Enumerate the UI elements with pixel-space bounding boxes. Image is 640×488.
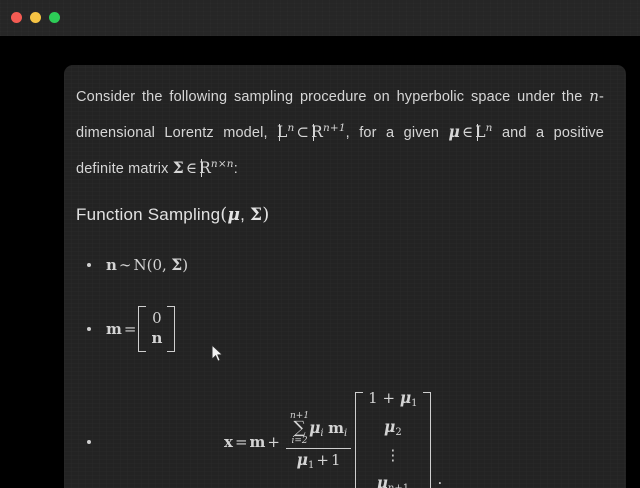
sym-sigma-1: Σ bbox=[173, 158, 184, 177]
entry-symbol: μ bbox=[384, 417, 395, 436]
vector-entry: 0 bbox=[152, 309, 162, 329]
bracket-left-icon bbox=[138, 306, 146, 352]
comma-1: , bbox=[346, 125, 350, 141]
sym-mu-1-den: μ bbox=[297, 450, 308, 469]
sup-n-plus-1: n+1 bbox=[323, 122, 346, 134]
summation: n+1 ∑ i=2 bbox=[290, 412, 309, 446]
fraction-numerator: n+1 ∑ i=2 μi mi bbox=[286, 412, 351, 448]
dist-sep: , bbox=[162, 256, 167, 274]
sum-lower-limit: i=2 bbox=[291, 437, 307, 446]
bullet-icon bbox=[87, 263, 91, 267]
sym-real-space-1: R bbox=[311, 123, 323, 141]
var-n: n bbox=[589, 87, 599, 105]
op-plus-2: + bbox=[314, 451, 331, 469]
entry-subscript: n+1 bbox=[388, 483, 409, 488]
sym-lorentz-space: L bbox=[277, 123, 287, 141]
sym-mu-i: μ bbox=[309, 418, 320, 437]
op-in-2: ∈ bbox=[184, 159, 199, 177]
vector-entry: μ2 bbox=[384, 417, 402, 439]
step-exponential-map: x=m+ n+1 ∑ i=2 μi mi bbox=[76, 388, 604, 488]
sym-mu-arg: μ bbox=[227, 205, 240, 225]
op-in-1: ∈ bbox=[460, 123, 475, 141]
and-text: and bbox=[502, 125, 527, 141]
vector-entry-ellipsis: ⋮ bbox=[385, 446, 400, 466]
vec-m-term: m bbox=[250, 433, 266, 451]
equation-1: n∼N(0, Σ) bbox=[106, 255, 188, 275]
minimize-window-button[interactable] bbox=[30, 12, 41, 23]
entry-symbol: μ bbox=[400, 388, 411, 407]
sym-lorentz-space-2: L bbox=[475, 123, 485, 141]
vec-n: n bbox=[106, 256, 117, 274]
op-equals-1: = bbox=[122, 320, 139, 338]
arg-separator: , bbox=[240, 205, 245, 224]
paragraph-line-1: Consider the following sampling procedur… bbox=[76, 89, 582, 105]
sub-i-2: i bbox=[344, 428, 347, 439]
op-subset: ⊂ bbox=[294, 123, 311, 141]
vector-entries: 1 + μ1 μ2 ⋮ μn+1 bbox=[366, 385, 419, 488]
entry-subscript: 2 bbox=[395, 427, 401, 438]
vector-entry: 1 + μ1 bbox=[368, 388, 417, 410]
function-name: Sampling bbox=[148, 205, 220, 224]
sup-n-times-n: n×n bbox=[211, 158, 234, 170]
vector-entries: 0 n bbox=[149, 306, 164, 352]
given-text: given bbox=[404, 125, 439, 141]
procedure-step-list: n∼N(0, Σ) m= 0 n bbox=[76, 252, 604, 488]
column-vector-mu: 1 + μ1 μ2 ⋮ μn+1 bbox=[355, 392, 430, 488]
paren-close: ) bbox=[262, 204, 269, 225]
den-one: 1 bbox=[331, 451, 341, 469]
for-text: for bbox=[359, 125, 376, 141]
vector-entry: μn+1 bbox=[377, 473, 410, 488]
paren-close-1: ) bbox=[182, 256, 188, 274]
sum-sigma-icon: ∑ bbox=[293, 421, 305, 437]
function-keyword: Function bbox=[76, 205, 143, 224]
vec-x: x bbox=[224, 433, 233, 451]
fraction-denominator: μ1+1 bbox=[293, 449, 345, 471]
dist-mean: 0 bbox=[152, 256, 162, 274]
model-text: model, bbox=[223, 125, 267, 141]
a-text-1: a bbox=[386, 125, 394, 141]
bracket-left-icon bbox=[355, 392, 363, 488]
intro-paragraph: Consider the following sampling procedur… bbox=[76, 81, 604, 185]
maximize-window-button[interactable] bbox=[49, 12, 60, 23]
op-equals-2: = bbox=[233, 433, 250, 451]
dist-cov: Σ bbox=[171, 255, 182, 274]
vec-m: m bbox=[106, 320, 122, 338]
equation-3: x=m+ n+1 ∑ i=2 μi mi bbox=[224, 392, 442, 488]
step-sample-noise: n∼N(0, Σ) bbox=[76, 252, 604, 278]
fraction: n+1 ∑ i=2 μi mi μ1+1 bbox=[286, 412, 351, 471]
op-tilde: ∼ bbox=[117, 256, 134, 274]
op-plus-1: + bbox=[265, 433, 282, 451]
bullet-icon bbox=[87, 440, 91, 444]
lorentz-text: Lorentz bbox=[164, 125, 213, 141]
colon-1: : bbox=[234, 161, 238, 177]
function-signature-heading: Function Sampling(μ, Σ) bbox=[76, 204, 604, 225]
app-window: Consider the following sampling procedur… bbox=[0, 0, 640, 488]
entry-subscript: 1 bbox=[411, 398, 417, 409]
entry-prefix: 1 + bbox=[368, 389, 400, 407]
trailing-period: . bbox=[438, 470, 443, 488]
sym-mu-1: μ bbox=[448, 122, 460, 141]
dist-normal: N bbox=[133, 256, 146, 274]
bracket-right-icon bbox=[167, 306, 175, 352]
sym-real-space-2: R bbox=[199, 159, 211, 177]
bullet-icon bbox=[87, 327, 91, 331]
a-text-2: a bbox=[536, 125, 544, 141]
sup-n-2: n bbox=[486, 122, 493, 134]
column-vector-m: 0 n bbox=[138, 306, 175, 352]
sym-sigma-arg: Σ bbox=[250, 205, 262, 225]
step-build-tangent-vector: m= 0 n bbox=[76, 302, 604, 356]
vec-m-i: m bbox=[328, 419, 344, 437]
vector-entry: n bbox=[151, 329, 162, 349]
close-window-button[interactable] bbox=[11, 12, 22, 23]
entry-symbol: μ bbox=[377, 473, 388, 488]
bracket-right-icon bbox=[423, 392, 431, 488]
traffic-light-group bbox=[11, 12, 60, 23]
sub-i-1: i bbox=[320, 428, 323, 439]
window-title-bar bbox=[0, 0, 640, 36]
document-content-panel: Consider the following sampling procedur… bbox=[64, 65, 626, 488]
equation-2: m= 0 n bbox=[106, 306, 175, 352]
